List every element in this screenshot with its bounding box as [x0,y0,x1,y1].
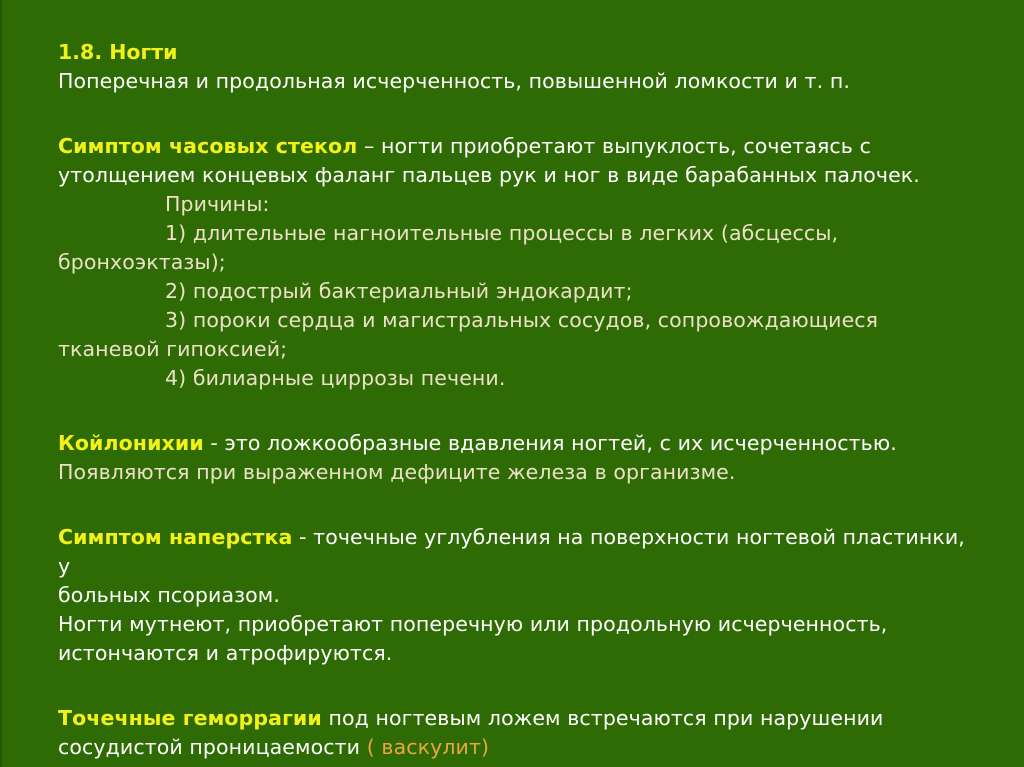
cause-item-1: 1) длительные нагноительные процессы в л… [58,219,966,248]
section-koilonychia: Койлонихии - это ложкообразные вдавления… [58,429,966,487]
thimble-extra-2: истончаются и атрофируются. [58,639,966,668]
hemorrhages-body-1: под ногтевым ложем встречаются при наруш… [322,706,884,730]
heading-block: 1.8. Ногти Поперечная и продольная исчер… [58,38,966,96]
cause-item-1-cont: бронхоэктазы); [58,248,966,277]
spacer [58,96,966,132]
slide-content: 1.8. Ногти Поперечная и продольная исчер… [58,38,966,762]
koilonychia-body: - это ложкообразные вдавления ногтей, с … [204,431,897,455]
section-hemorrhages: Точечные геморрагии под ногтевым ложем в… [58,704,966,762]
cause-item-2: 2) подострый бактериальный эндокардит; [58,277,966,306]
hemorrhages-body-2: сосудистой проницаемости [58,735,367,759]
hemorrhages-accent-term: ( васкулит) [367,735,489,759]
section-watch-glasses: Симптом часовых стекол – ногти приобрета… [58,132,966,393]
hemorrhages-line-1: Точечные геморрагии под ногтевым ложем в… [58,704,966,733]
slide-heading: 1.8. Ногти [58,38,966,67]
watch-glasses-body-1: – ногти приобретают выпуклость, сочетаяс… [357,134,871,158]
spacer [58,668,966,704]
watch-glasses-line-1: Симптом часовых стекол – ногти приобрета… [58,132,966,161]
cause-item-3: 3) пороки сердца и магистральных сосудов… [58,306,966,335]
thimble-extra-1: Ногти мутнеют, приобретают поперечную ил… [58,610,966,639]
slide-subheading: Поперечная и продольная исчерченность, п… [58,67,966,96]
spacer [58,487,966,523]
cause-item-4: 4) билиарные циррозы печени. [58,364,966,393]
koilonychia-line-1: Койлонихии - это ложкообразные вдавления… [58,429,966,458]
slide-canvas: 1.8. Ногти Поперечная и продольная исчер… [0,0,1024,767]
thimble-line-1: Симптом наперстка - точечные углубления … [58,523,966,581]
cause-item-3-cont: тканевой гипоксией; [58,335,966,364]
thimble-lead: Симптом наперстка [58,525,292,549]
watch-glasses-lead: Симптом часовых стекол [58,134,357,158]
koilonychia-lead: Койлонихии [58,431,204,455]
section-thimble: Симптом наперстка - точечные углубления … [58,523,966,668]
watch-glasses-line-2: утолщением концевых фаланг пальцев рук и… [58,161,966,190]
causes-label: Причины: [58,190,966,219]
thimble-line-2: больных псориазом. [58,581,966,610]
hemorrhages-lead: Точечные геморрагии [58,706,322,730]
hemorrhages-line-2: сосудистой проницаемости ( васкулит) [58,733,966,762]
koilonychia-note: Появляются при выраженном дефиците желез… [58,458,966,487]
spacer [58,393,966,429]
